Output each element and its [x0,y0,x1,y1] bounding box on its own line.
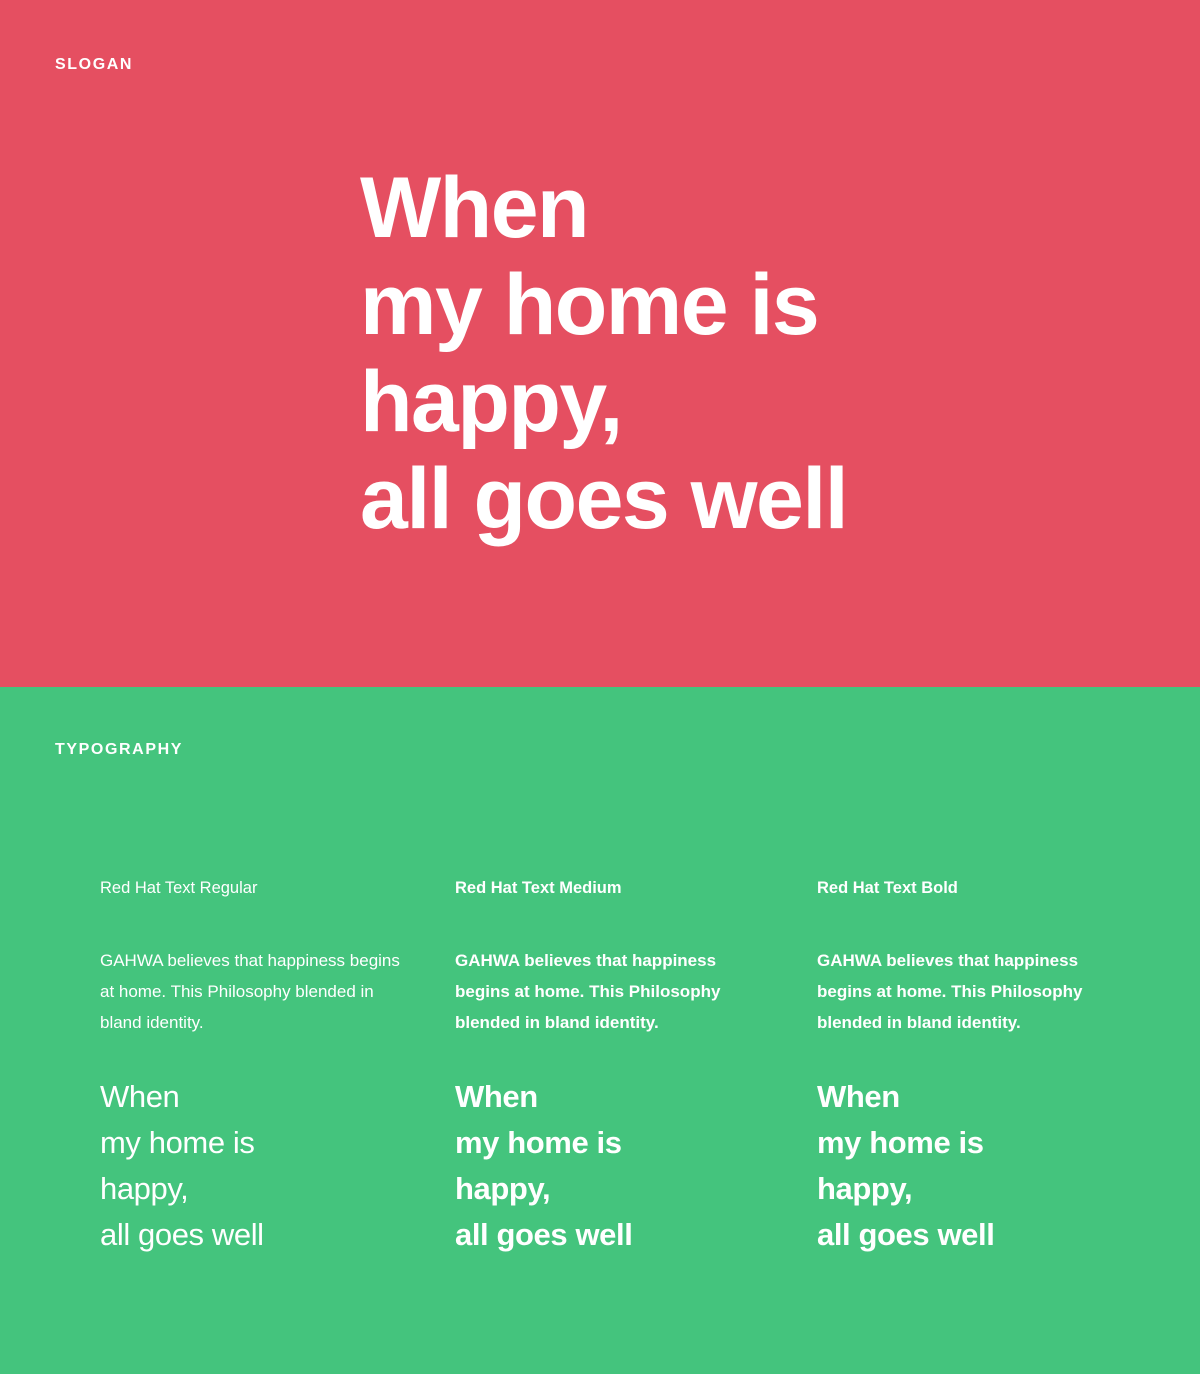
typography-column-bold: Red Hat Text Bold GAHWA believes that ha… [817,877,1147,1258]
brand-guidelines-page: SLOGAN When my home is happy, all goes w… [0,0,1200,1374]
typography-column-medium: Red Hat Text Medium GAHWA believes that … [455,877,785,1258]
typography-section-label: TYPOGRAPHY [55,741,183,759]
font-sample-slogan-bold: When my home is happy, all goes well [817,1074,1147,1258]
typography-section: TYPOGRAPHY Red Hat Text Regular GAHWA be… [0,687,1200,1374]
font-style-name-bold: Red Hat Text Bold [817,877,1147,899]
typography-column-regular: Red Hat Text Regular GAHWA believes that… [100,877,430,1258]
font-sample-paragraph-medium: GAHWA believes that happiness begins at … [455,945,755,1038]
font-style-name-regular: Red Hat Text Regular [100,877,430,899]
font-style-name-medium: Red Hat Text Medium [455,877,785,899]
typography-specimen-columns: Red Hat Text Regular GAHWA believes that… [0,877,1200,1297]
slogan-section-label: SLOGAN [55,56,133,74]
font-sample-slogan-regular: When my home is happy, all goes well [100,1074,430,1258]
font-sample-paragraph-regular: GAHWA believes that happiness begins at … [100,945,400,1038]
font-sample-paragraph-bold: GAHWA believes that happiness begins at … [817,945,1117,1038]
slogan-headline: When my home is happy, all goes well [360,160,847,548]
font-sample-slogan-medium: When my home is happy, all goes well [455,1074,785,1258]
slogan-section: SLOGAN When my home is happy, all goes w… [0,0,1200,687]
